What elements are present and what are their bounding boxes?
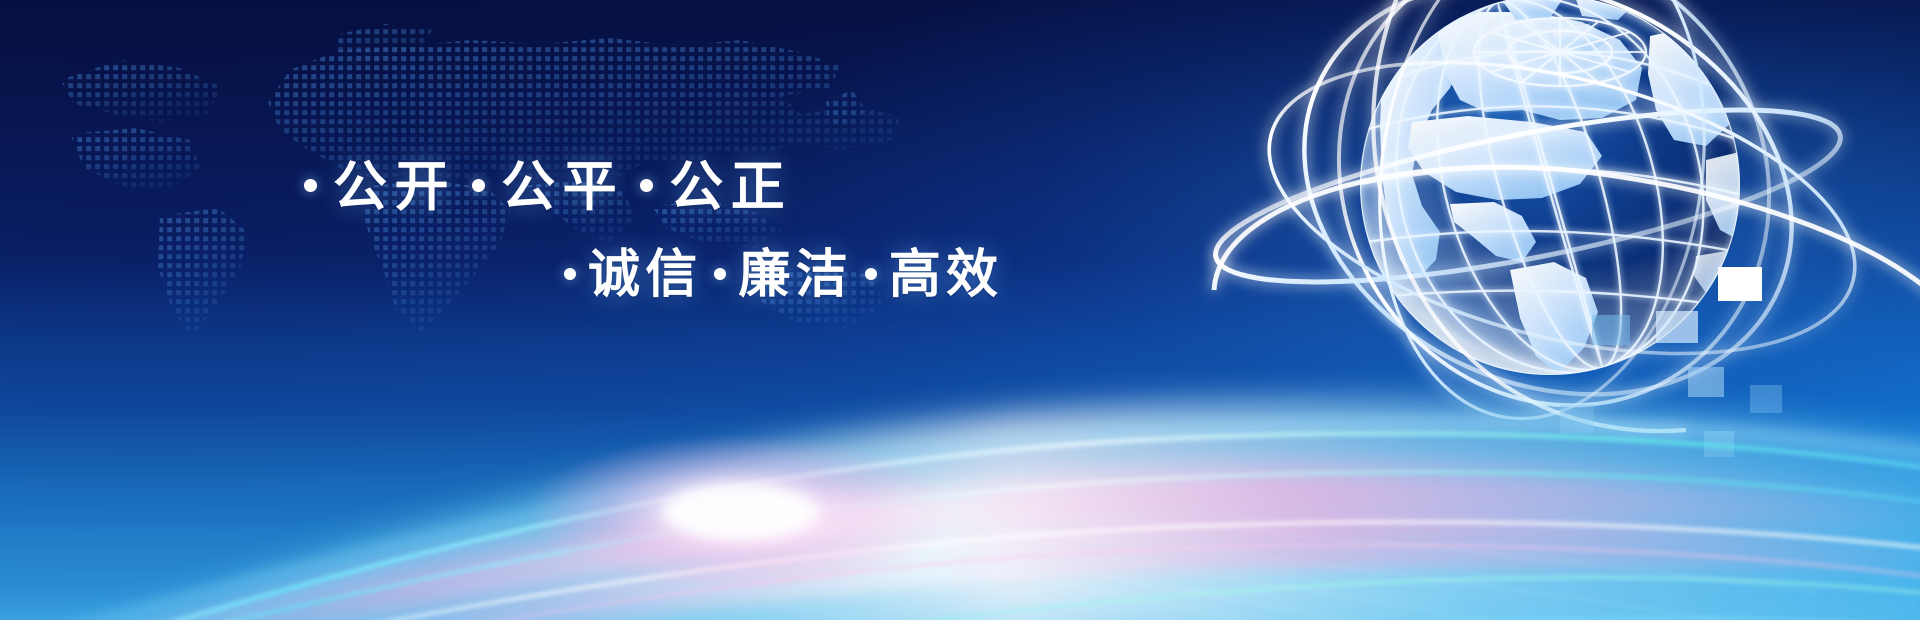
banner-root: 公开公平公正 诚信廉洁高效 [0, 0, 1920, 620]
light-swoosh [0, 280, 1920, 620]
swoosh-hotspot-core [662, 485, 818, 539]
swoosh-floor [0, 610, 1920, 620]
